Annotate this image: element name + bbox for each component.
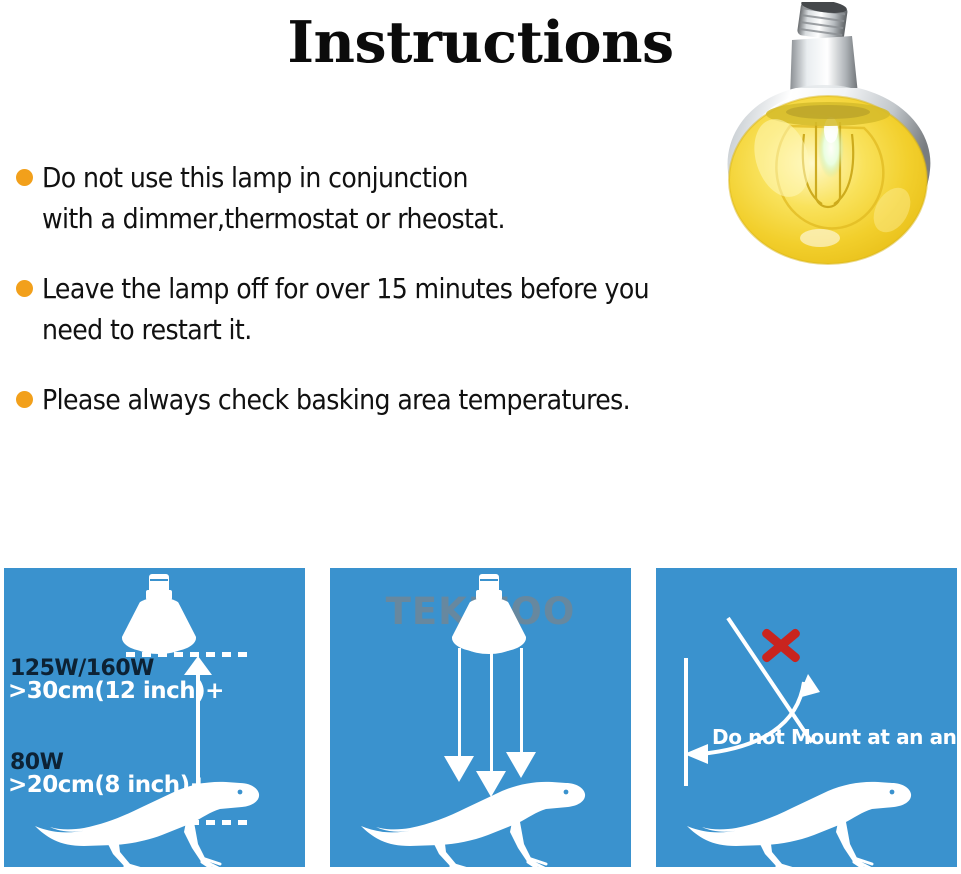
bulb-icon <box>452 574 526 652</box>
light-ray-left <box>458 648 461 760</box>
instructions-list: Do not use this lamp in conjunction with… <box>16 158 946 451</box>
tilted-bulb-icon <box>656 568 747 663</box>
list-item-text: Do not use this lamp in conjunction with… <box>42 158 946 239</box>
light-ray-right <box>520 648 523 756</box>
list-item: Leave the lamp off for over 15 minutes b… <box>16 269 946 350</box>
list-item-text: Leave the lamp off for over 15 minutes b… <box>42 269 946 350</box>
angle-caption: Do not Mount at an angle <box>712 725 957 749</box>
bulb-icon <box>122 574 196 652</box>
lizard-silhouette-icon <box>686 774 916 867</box>
bullet-dot-icon <box>16 280 33 297</box>
diagram-panels: 125W/160W >30cm(12 inch)+ 80W >20cm(8 in… <box>4 568 957 867</box>
bullet-dot-icon <box>16 169 33 186</box>
lizard-silhouette-icon <box>34 774 264 867</box>
panel-straight-down-mounting: TEKIZOO <box>330 568 631 867</box>
list-item: Please always check basking area tempera… <box>16 380 946 421</box>
list-item: Do not use this lamp in conjunction with… <box>16 158 946 239</box>
lizard-silhouette-icon <box>360 774 590 867</box>
bullet-dot-icon <box>16 391 33 408</box>
light-ray-center <box>490 648 493 775</box>
label-high-distance: >30cm(12 inch)+ <box>8 678 224 704</box>
list-item-text: Please always check basking area tempera… <box>42 380 946 421</box>
panel-mounting-distance: 125W/160W >30cm(12 inch)+ 80W >20cm(8 in… <box>4 568 305 867</box>
panel-do-not-angle: Do not Mount at an angle <box>656 568 957 867</box>
x-mark-icon <box>756 620 804 668</box>
